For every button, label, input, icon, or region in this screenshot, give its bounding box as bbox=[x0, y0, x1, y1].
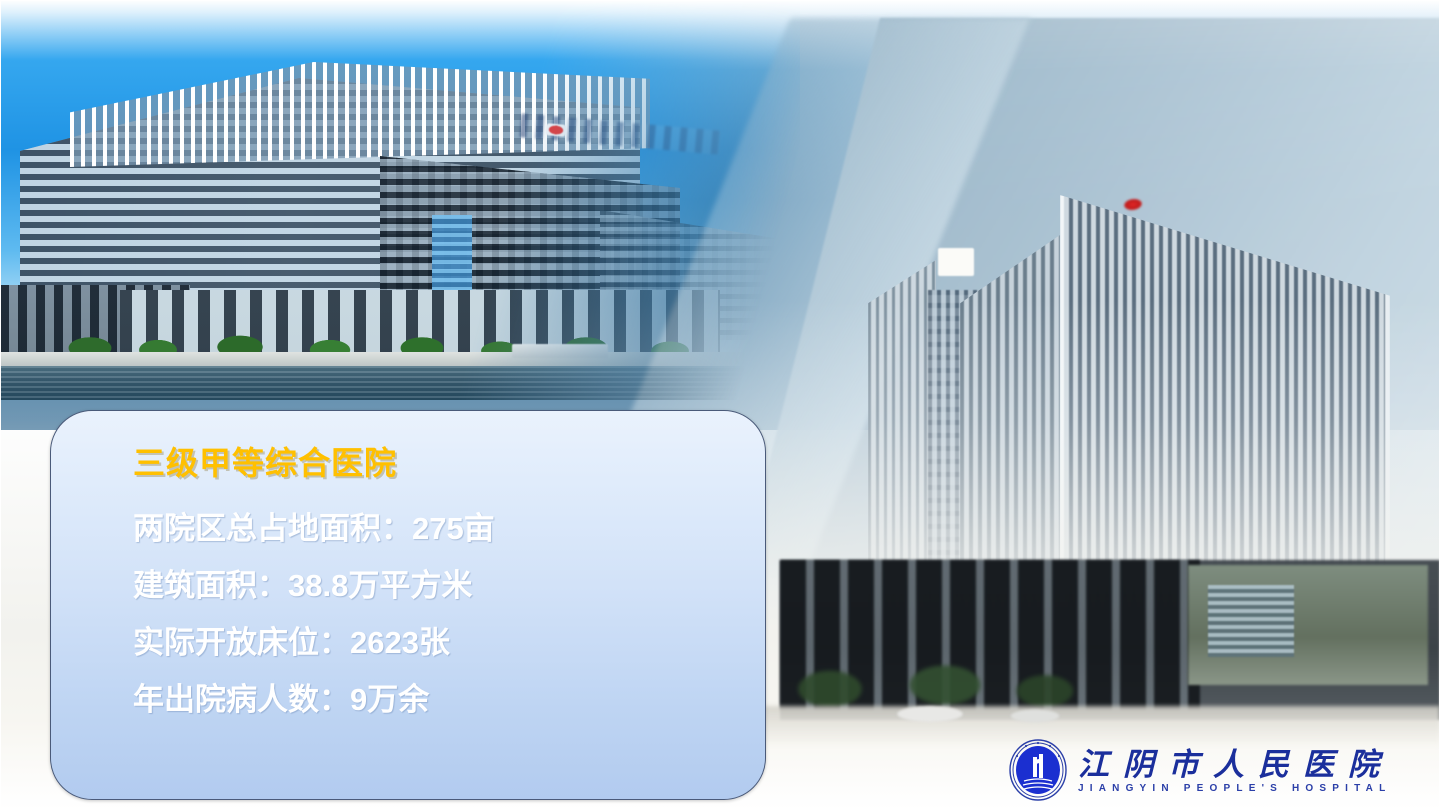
hospital-facts-card: 三级甲等综合医院 两院区总占地面积：275亩 建筑面积：38.8万平方米 实际开… bbox=[50, 410, 766, 800]
fact-line-discharges: 年出院病人数：9万余 bbox=[133, 684, 747, 715]
inset-hospital-photo bbox=[0, 0, 800, 400]
card-content: 三级甲等综合医院 两院区总占地面积：275亩 建筑面积：38.8万平方米 实际开… bbox=[133, 439, 747, 715]
background-green-glass bbox=[1208, 585, 1294, 657]
fact-line-land-area: 两院区总占地面积：275亩 bbox=[133, 513, 747, 544]
fact-line-building-area: 建筑面积：38.8万平方米 bbox=[133, 570, 747, 601]
inset-rooftop-logo-icon bbox=[546, 123, 567, 137]
inset-waterfront bbox=[0, 366, 800, 400]
hospital-circular-emblem-icon bbox=[1008, 739, 1068, 806]
logo-name-english: JIANGYIN PEOPLE'S HOSPITAL bbox=[1078, 783, 1393, 795]
logo-wordmark: 江阴市人民医院 JIANGYIN PEOPLE'S HOSPITAL bbox=[1078, 749, 1393, 795]
presentation-slide: 三级甲等综合医院 两院区总占地面积：275亩 建筑面积：38.8万平方米 实际开… bbox=[0, 0, 1440, 810]
hospital-logo: 江阴市人民医院 JIANGYIN PEOPLE'S HOSPITAL bbox=[1008, 738, 1438, 806]
logo-name-chinese: 江阴市人民医院 bbox=[1078, 749, 1393, 782]
inset-bus bbox=[512, 344, 608, 358]
background-tower-plaque bbox=[938, 248, 974, 276]
background-cars bbox=[870, 700, 1150, 726]
fact-line-beds: 实际开放床位：2623张 bbox=[133, 627, 747, 658]
card-title: 三级甲等综合医院 bbox=[133, 439, 747, 487]
